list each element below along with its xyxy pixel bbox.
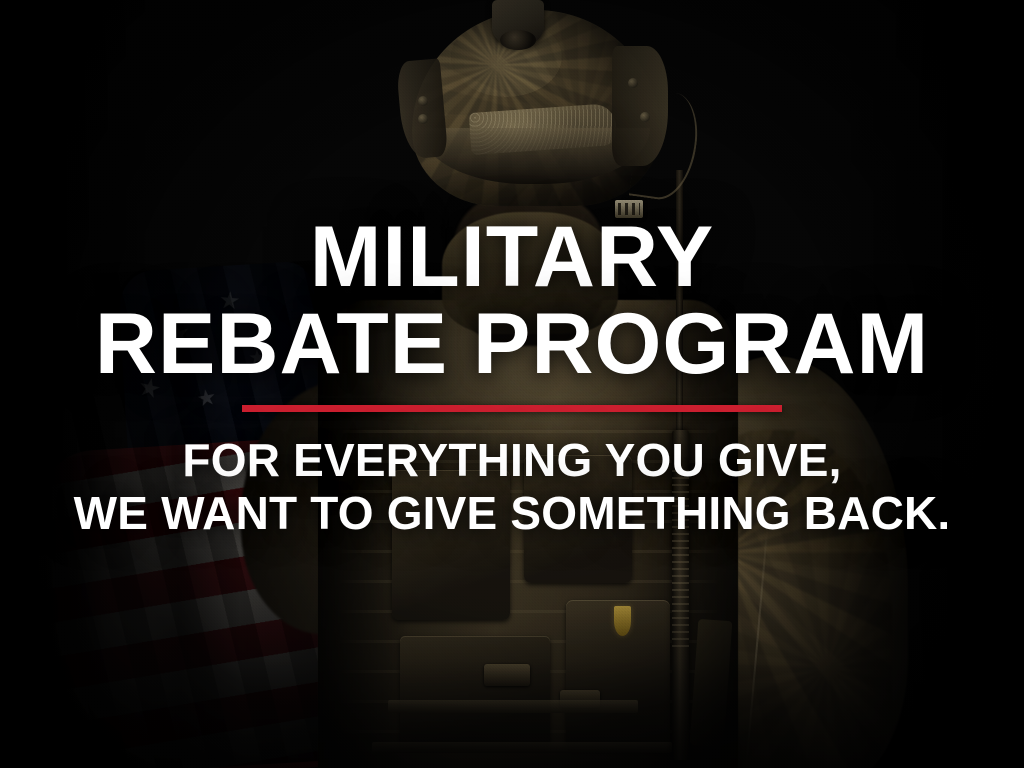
helmet-rail-fastener [418,114,428,124]
vest-pouch [524,455,632,583]
helmet-rail-fastener [628,78,638,88]
vest-strap [388,700,638,713]
rifle-barrel [676,170,683,440]
face-gaiter [442,212,618,334]
helmet-rail-fastener [418,96,428,106]
yellow-gear-tab [614,606,631,636]
rifle-rail-texture [672,470,689,650]
military-rebate-banner: ★ ★ ★ ★ ★ ★ [0,0,1024,768]
vest-buckle [484,664,530,686]
vest-pouch [392,470,510,620]
vest-pouch [400,636,550,748]
nvg-mount-knob [500,30,536,50]
ir-identification-patch [615,200,643,218]
helmet-left-rail [396,58,448,159]
background-photo: ★ ★ ★ ★ ★ ★ [0,0,1024,768]
vest-strap [372,742,672,753]
